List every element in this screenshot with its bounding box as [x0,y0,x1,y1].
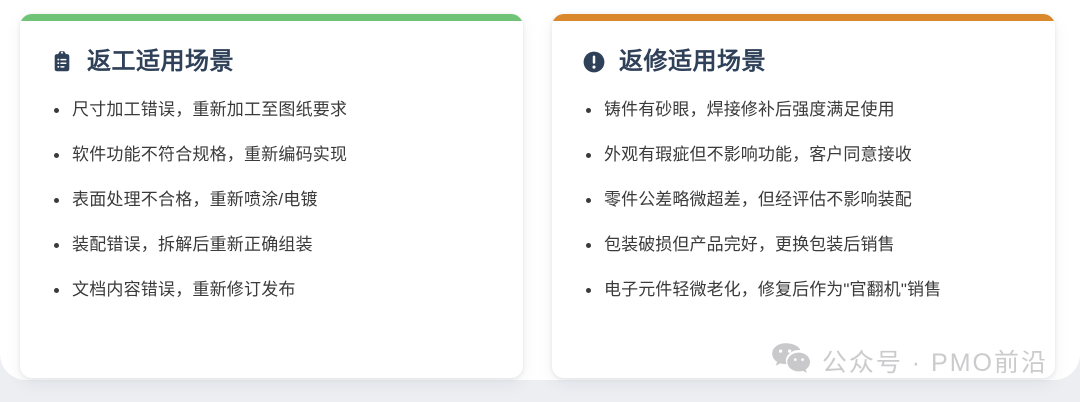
card-title-text-repair: 返修适用场景 [619,48,766,77]
scenario-list-item: 电子元件轻微老化，修复后作为"官翻机"销售 [582,279,1025,302]
scenario-list-rework: 尺寸加工错误，重新加工至图纸要求 软件功能不符合规格，重新编码实现 表面处理不合… [50,99,493,302]
scenario-list-item: 包装破损但产品完好，更换包装后销售 [582,234,1025,257]
scenario-list-item: 文档内容错误，重新修订发布 [50,279,493,302]
card-accent-bar-rework [20,14,523,21]
scenario-list-item: 装配错误，拆解后重新正确组装 [50,234,493,257]
scenario-list-item: 铸件有砂眼，焊接修补后强度满足使用 [582,99,1025,122]
card-title-repair: 返修适用场景 [582,48,1025,77]
card-repair: 返修适用场景 铸件有砂眼，焊接修补后强度满足使用 外观有瑕疵但不影响功能，客户同… [552,14,1055,378]
clipboard-list-icon [50,50,74,74]
card-title-text-rework: 返工适用场景 [87,48,234,77]
scenario-list-item: 表面处理不合格，重新喷涂/电镀 [50,189,493,212]
scenario-list-item: 尺寸加工错误，重新加工至图纸要求 [50,99,493,122]
scenario-card-board: 返工适用场景 尺寸加工错误，重新加工至图纸要求 软件功能不符合规格，重新编码实现… [0,0,1080,402]
card-accent-bar-repair [552,14,1055,21]
card-title-rework: 返工适用场景 [50,48,493,77]
scenario-list-item: 软件功能不符合规格，重新编码实现 [50,144,493,167]
card-rework: 返工适用场景 尺寸加工错误，重新加工至图纸要求 软件功能不符合规格，重新编码实现… [20,14,523,378]
scenario-list-item: 零件公差略微超差，但经评估不影响装配 [582,189,1025,212]
scenario-list-repair: 铸件有砂眼，焊接修补后强度满足使用 外观有瑕疵但不影响功能，客户同意接收 零件公… [582,99,1025,302]
scenario-list-item: 外观有瑕疵但不影响功能，客户同意接收 [582,144,1025,167]
exclamation-circle-icon [582,50,606,74]
